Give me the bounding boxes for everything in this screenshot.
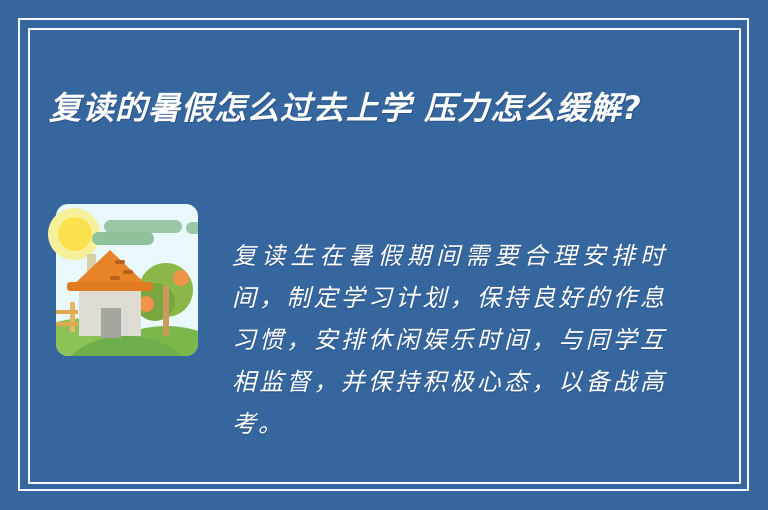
- cloud-lower: [92, 232, 154, 245]
- house-door: [101, 308, 121, 338]
- countryside-house-icon: [48, 198, 198, 360]
- tree-trunk: [163, 286, 169, 336]
- fence-post-2: [70, 302, 75, 332]
- page-title: 复读的暑假怎么过去上学 压力怎么缓解?: [49, 85, 689, 131]
- roof-tile-2: [123, 270, 133, 274]
- countryside-house-illustration: [48, 198, 198, 360]
- roof-eave: [67, 282, 153, 291]
- cloud-right: [186, 222, 202, 234]
- roof-tile-3: [110, 276, 120, 280]
- grass-hill-front: [64, 336, 188, 412]
- poster-canvas: 复读的暑假怎么过去上学 压力怎么缓解?: [0, 0, 768, 510]
- roof-tile-1: [115, 260, 125, 264]
- sun-icon: [58, 217, 92, 251]
- fence-post-1: [50, 304, 55, 332]
- article-body: 复读生在暑假期间需要合理安排时间，制定学习计划，保持良好的作息习惯，安排休闲娱乐…: [232, 235, 666, 445]
- fruit-icon-1: [173, 270, 189, 286]
- cloud-upper: [104, 220, 182, 233]
- fence-rail-bottom: [48, 322, 78, 326]
- fence-rail-top: [48, 310, 78, 314]
